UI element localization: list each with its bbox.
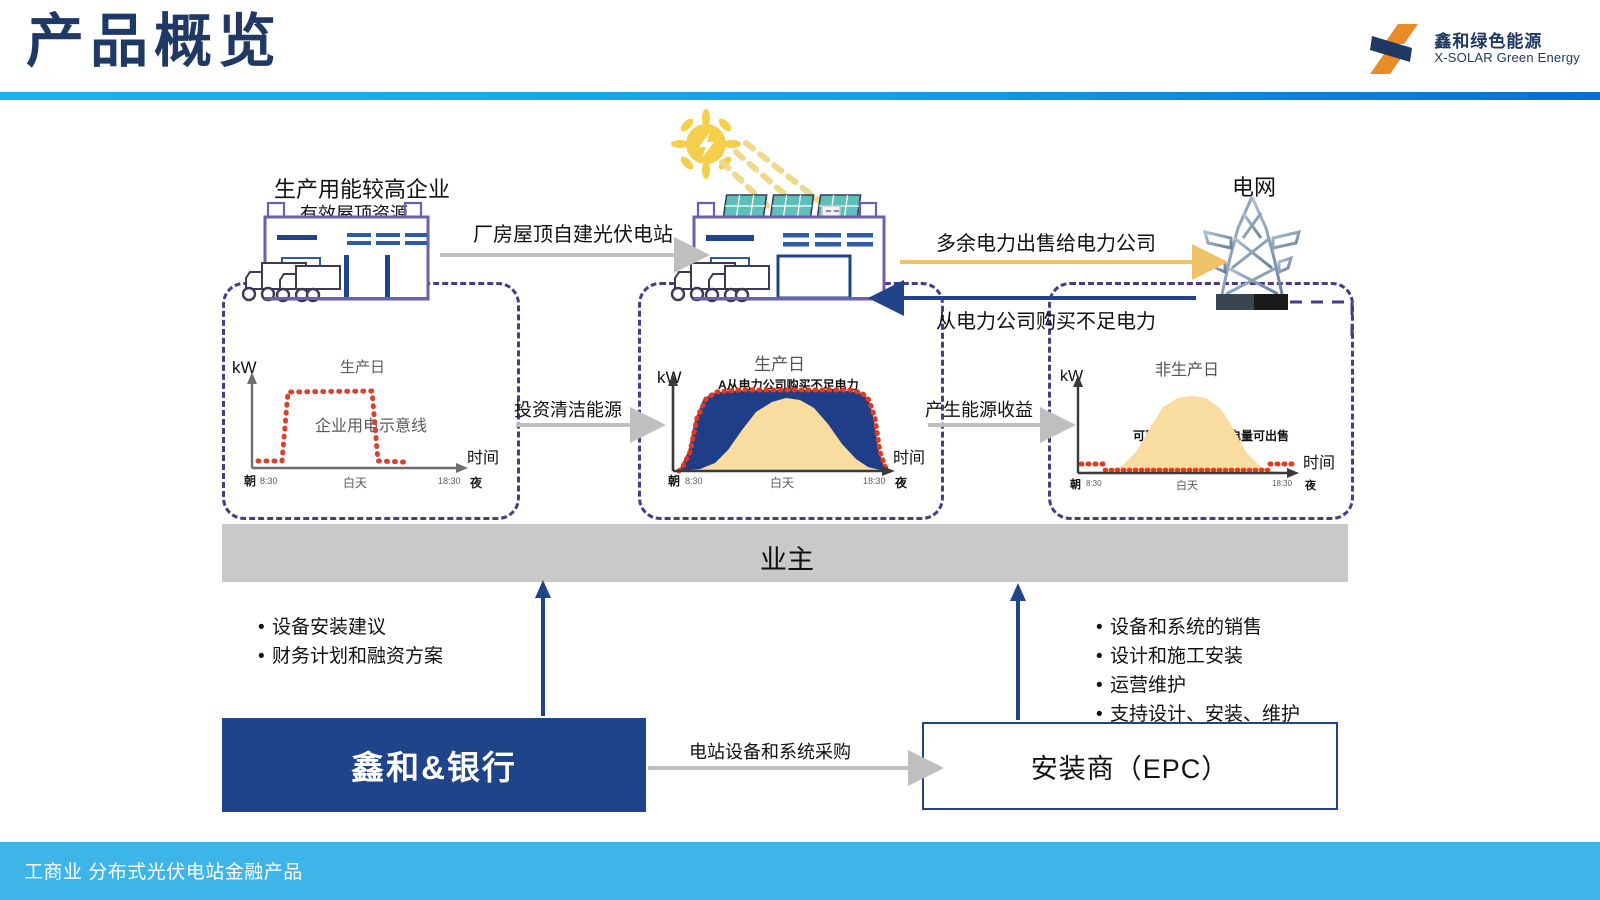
- chart2-region-a-right: A: [851, 412, 861, 428]
- chart1-xtick-night: 夜: [470, 474, 482, 491]
- chart2-xtick-830: 8:30: [685, 476, 703, 486]
- page-title: 产品概览: [26, 6, 282, 79]
- bank-bullets: •设备安装建议 •财务计划和融资方案: [258, 614, 443, 672]
- chart2-xtick-night: 夜: [895, 474, 907, 491]
- list-item: •运营维护: [1096, 672, 1300, 701]
- arrow-label-rooftop-pv: 厂房屋顶自建光伏电站: [473, 218, 673, 247]
- chart3-title: 非生产日: [1155, 356, 1219, 380]
- arrow-epc-to-owner: [1010, 583, 1026, 720]
- chart2-title: 生产日: [754, 350, 805, 375]
- chart3-xtick-night: 夜: [1305, 477, 1316, 493]
- epc-box-label: 安装商（EPC）: [1031, 747, 1230, 786]
- chart2-region-a-left: A: [714, 412, 724, 428]
- chart1-title: 生产日: [340, 356, 385, 377]
- chart3-xtick-daytime: 白天: [1176, 477, 1198, 493]
- chart3-xtick-1830: 18:30: [1272, 479, 1292, 488]
- bank-box-label: 鑫和&银行: [351, 741, 517, 789]
- chart3-xtick-morning: 朝: [1070, 476, 1081, 492]
- chart2-annotation-b: B可再生能源，自用消耗: [713, 450, 842, 467]
- chart2-axis-y-label: kW: [657, 368, 682, 388]
- chart2-axis-x-label: 时间: [893, 444, 925, 468]
- chart2-xtick-daytime: 白天: [770, 474, 794, 491]
- arrow-label-sell-power: 多余电力出售给电力公司: [936, 227, 1156, 256]
- chart1-axis-y-label: kW: [232, 358, 257, 378]
- epc-bullets: •设备和系统的销售 •设计和施工安装 •运营维护 •支持设计、安装、维护: [1096, 614, 1300, 730]
- chart2-xtick-morning: 朝: [668, 472, 680, 489]
- logo-text-cn: 鑫和绿色能源: [1434, 32, 1580, 51]
- logo-text-en: X-SOLAR Green Energy: [1434, 51, 1580, 66]
- left-building-subtitle: 有效屋顶资源: [300, 200, 408, 226]
- header-divider: [0, 92, 1600, 100]
- chart1-xtick-daytime: 白天: [343, 474, 367, 491]
- chart3-annotation: 可再生能源，多余电量可出售: [1133, 427, 1289, 444]
- chart2-region-b: B: [783, 412, 793, 428]
- arrow-label-buy-power: 从电力公司购买不足电力: [936, 305, 1156, 334]
- list-item: •设备安装建议: [258, 614, 443, 643]
- solar-panel-icon: [722, 195, 861, 228]
- logo-mark-icon: [1368, 22, 1422, 76]
- chart1-annotation: 企业用电示意线: [315, 412, 427, 436]
- logo-text: 鑫和绿色能源 X-SOLAR Green Energy: [1434, 32, 1580, 66]
- chart1-xtick-1830: 18:30: [438, 476, 461, 486]
- chart1-axis-x-label: 时间: [467, 444, 499, 468]
- list-item: •财务计划和融资方案: [258, 643, 443, 672]
- chart1-xtick-morning: 朝: [244, 472, 256, 489]
- bank-box[interactable]: 鑫和&银行: [222, 718, 646, 812]
- list-item: •设备和系统的销售: [1096, 614, 1300, 643]
- arrow-label-procurement: 电站设备和系统采购: [689, 738, 851, 764]
- chart1-xtick-830: 8:30: [260, 476, 278, 486]
- footer-text: 工商业 分布式光伏电站金融产品: [24, 857, 303, 884]
- arrow-bank-to-owner: [535, 580, 551, 716]
- epc-box[interactable]: 安装商（EPC）: [922, 722, 1338, 810]
- chart3-axis-x-label: 时间: [1303, 449, 1335, 473]
- sun-icon: [671, 109, 818, 213]
- chart2-xtick-1830: 18:30: [863, 476, 886, 486]
- owner-strip-label: 业主: [760, 538, 814, 577]
- chart3-axis-y-label: kW: [1060, 368, 1083, 386]
- grid-title: 电网: [1232, 170, 1276, 202]
- slide-root: 产品概览 鑫和绿色能源 X-SOLAR Green Energy 生产用能较高企…: [0, 0, 1600, 900]
- chart3-xtick-830: 8:30: [1086, 479, 1102, 488]
- chart2-annotation-a: A从电力公司购买不足电力: [718, 376, 859, 393]
- arrow-label-revenue: 产生能源收益: [925, 396, 1033, 422]
- arrow-label-invest: 投资清洁能源: [514, 396, 622, 422]
- company-logo: 鑫和绿色能源 X-SOLAR Green Energy: [1368, 22, 1580, 76]
- list-item: •设计和施工安装: [1096, 643, 1300, 672]
